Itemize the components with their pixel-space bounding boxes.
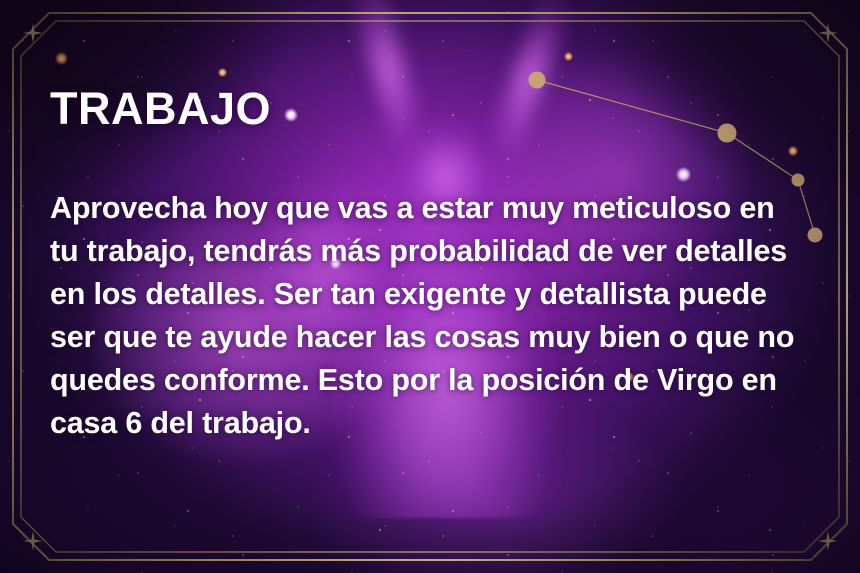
horoscope-paragraph: Aprovecha hoy que vas a estar muy meticu…: [50, 187, 802, 445]
card-content: TRABAJO Aprovecha hoy que vas a estar mu…: [50, 86, 820, 445]
page-title: TRABAJO: [50, 86, 820, 131]
horoscope-card: TRABAJO Aprovecha hoy que vas a estar mu…: [0, 0, 860, 573]
